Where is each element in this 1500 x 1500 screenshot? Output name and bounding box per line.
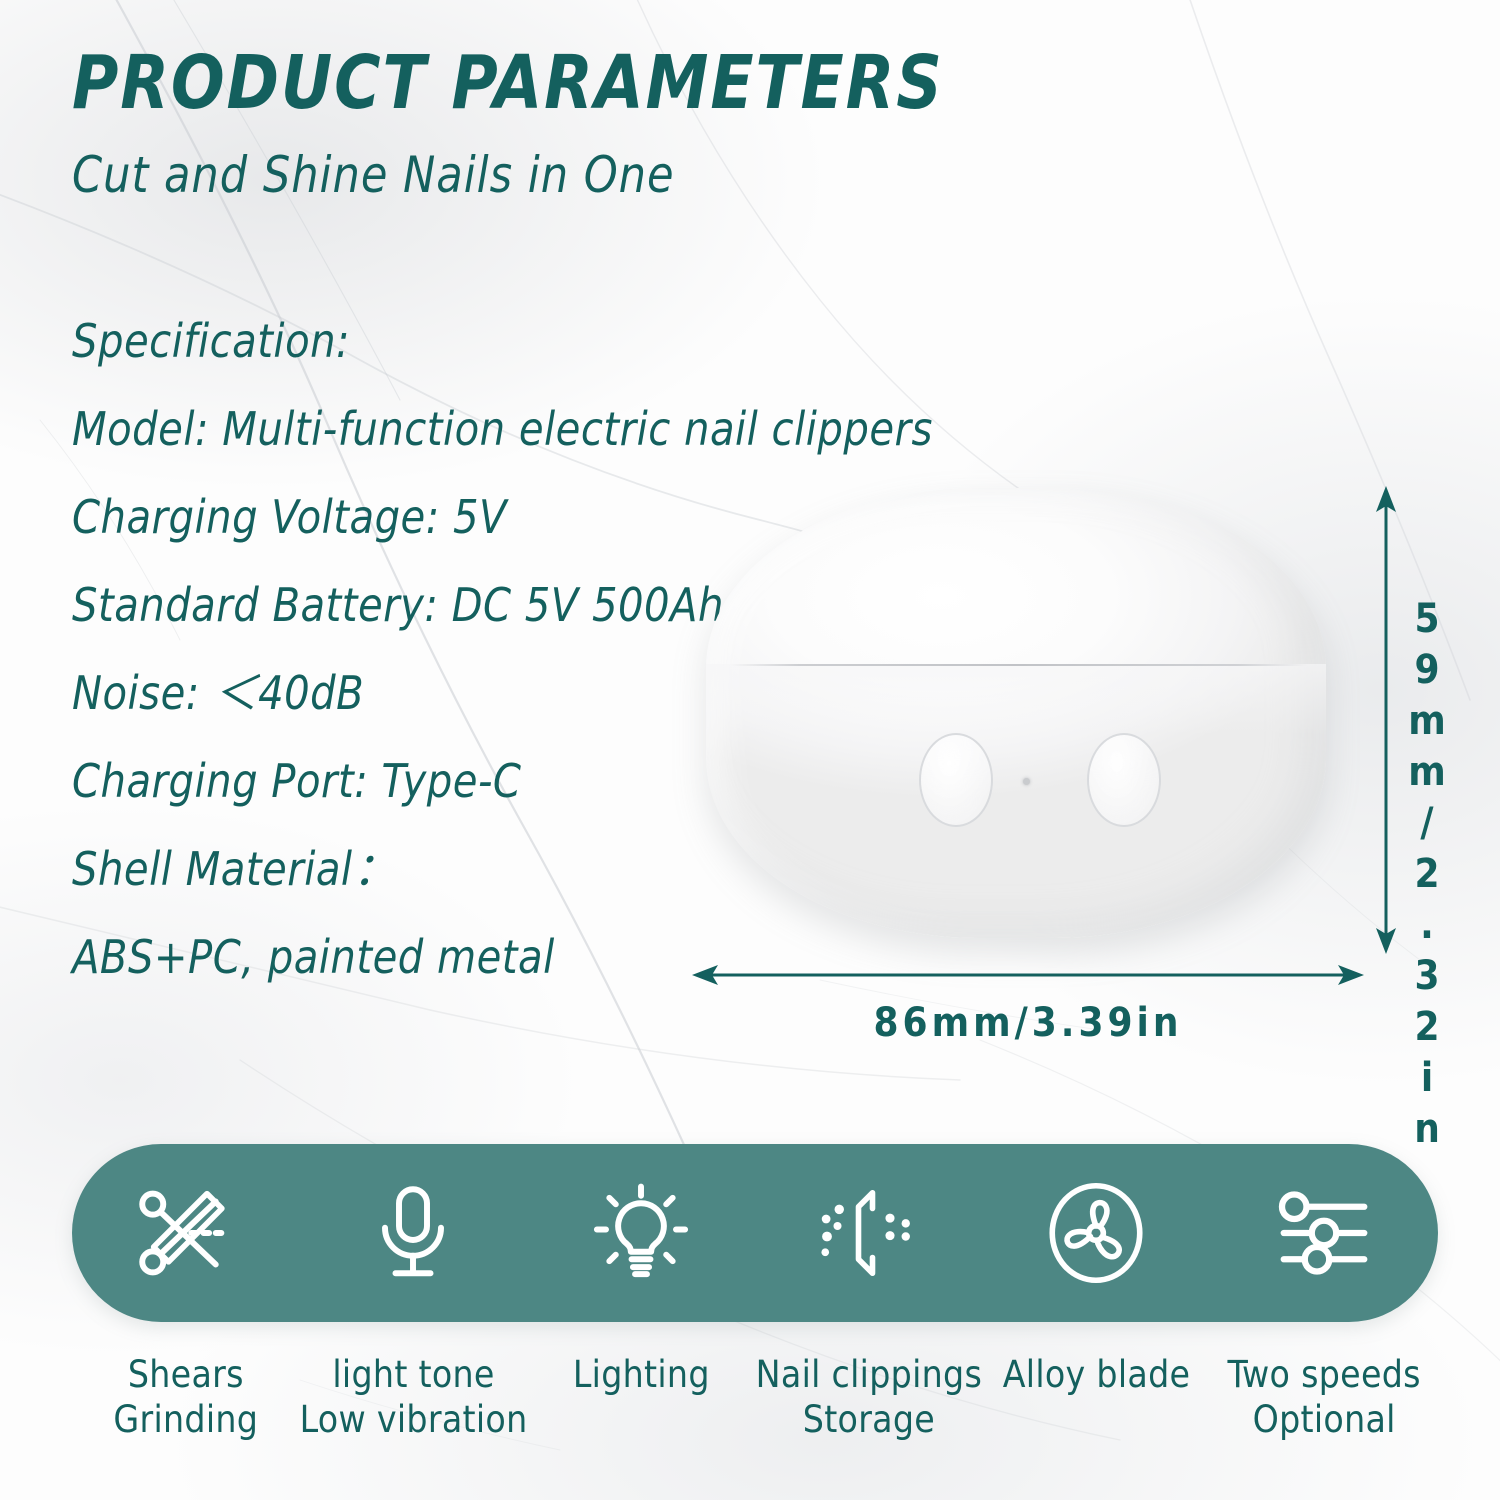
feature-label-two-speeds: Two speeds Optional — [1210, 1352, 1438, 1442]
feature-bar — [72, 1144, 1438, 1322]
infographic-page: PRODUCT PARAMETERS Cut and Shine Nails i… — [0, 0, 1500, 1500]
feature-label-line2: Optional — [1210, 1397, 1438, 1442]
charging-case-body — [706, 488, 1326, 938]
fan-blade-icon — [1032, 1169, 1160, 1297]
feature-label-line1: Shears — [72, 1352, 300, 1397]
case-button-right — [1087, 733, 1161, 827]
microphone-icon — [349, 1169, 477, 1297]
feature-label-line1: Lighting — [527, 1352, 755, 1397]
feature-label-light-tone: light tone Low vibration — [300, 1352, 528, 1442]
feature-label-line2: Low vibration — [300, 1397, 528, 1442]
feature-label-line1: Alloy blade — [983, 1352, 1211, 1397]
page-title: PRODUCT PARAMETERS — [72, 44, 944, 124]
product-image — [706, 488, 1326, 938]
feature-label-line1: light tone — [300, 1352, 528, 1397]
case-button-left — [919, 733, 993, 827]
feature-label-lighting: Lighting — [527, 1352, 755, 1397]
case-lid-seam — [731, 664, 1308, 666]
spec-line-model: Model: Multi-function electric nail clip… — [72, 406, 867, 452]
clippings-storage-icon — [805, 1169, 933, 1297]
feature-labels: Shears Grinding light tone Low vibration… — [72, 1352, 1438, 1442]
feature-label-shears: Shears Grinding — [72, 1352, 300, 1442]
feature-label-line2: Grinding — [72, 1397, 300, 1442]
scissors-grinding-icon — [122, 1169, 250, 1297]
feature-label-line1: Two speeds — [1210, 1352, 1438, 1397]
width-dimension-arrow — [692, 952, 1364, 998]
header: PRODUCT PARAMETERS Cut and Shine Nails i… — [72, 44, 990, 204]
light-bulb-icon — [577, 1169, 705, 1297]
feature-label-line1: Nail clippings — [755, 1352, 983, 1397]
case-led-indicator — [1023, 778, 1030, 785]
feature-label-clippings-storage: Nail clippings Storage — [755, 1352, 983, 1442]
page-subtitle: Cut and Shine Nails in One — [72, 146, 953, 204]
spec-line-heading: Specification: — [72, 318, 867, 364]
feature-label-line2: Storage — [755, 1397, 983, 1442]
feature-label-alloy-blade: Alloy blade — [983, 1352, 1211, 1397]
width-dimension-label: 86mm/3.39in — [692, 1000, 1364, 1046]
height-dimension-label: 59mm/2.32in — [1404, 596, 1450, 1157]
sliders-icon — [1260, 1169, 1388, 1297]
